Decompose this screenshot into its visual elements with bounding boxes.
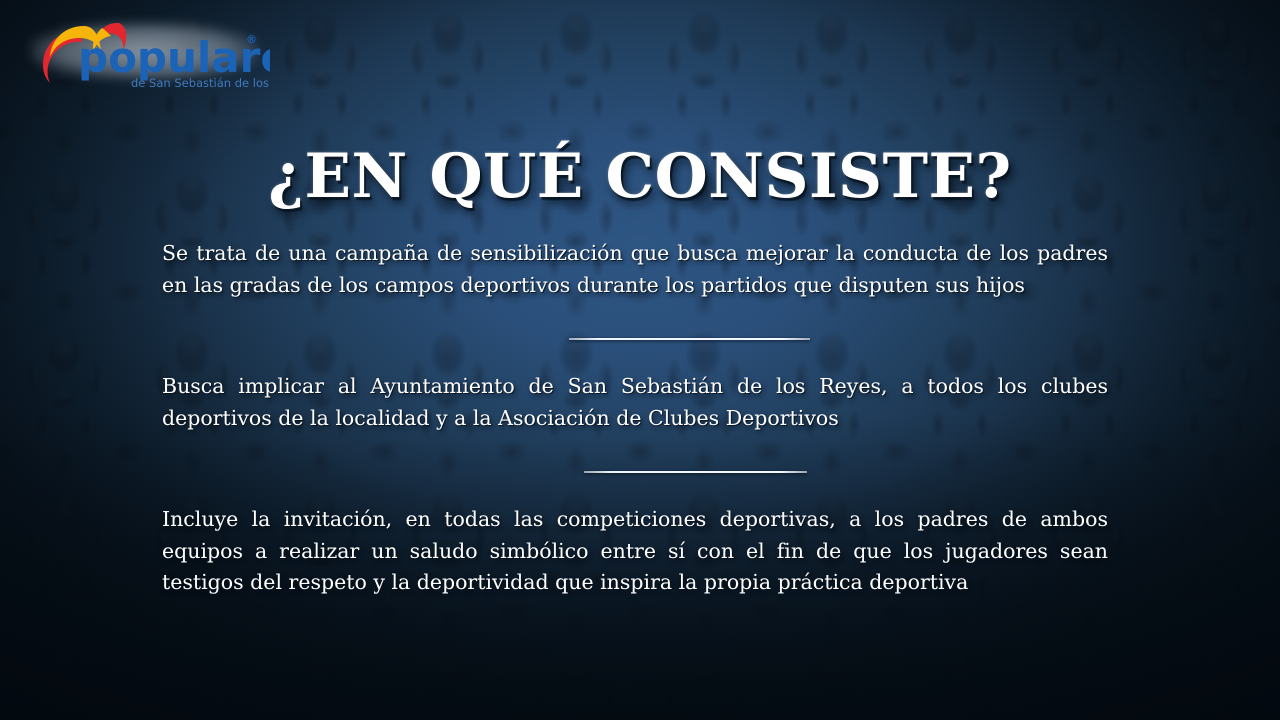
slide-title: ¿EN QUÉ CONSISTE? — [0, 145, 1280, 208]
spacer-1 — [162, 301, 1108, 327]
populares-logo[interactable]: populares ® de San Sebastián de los Reye… — [18, 10, 270, 92]
divider-2-wrap — [162, 460, 1108, 478]
logo-subtitle: de San Sebastián de los Reyes — [131, 76, 270, 90]
presentation-slide: populares ® de San Sebastián de los Reye… — [0, 0, 1280, 720]
slide-body: Se trata de una campaña de sensibilizaci… — [162, 238, 1108, 599]
paragraph-2: Busca implicar al Ayuntamiento de San Se… — [162, 371, 1108, 434]
paragraph-1: Se trata de una campaña de sensibilizaci… — [162, 238, 1108, 301]
spacer-2 — [162, 345, 1108, 371]
spacer-3 — [162, 434, 1108, 460]
divider-1-wrap — [162, 327, 1108, 345]
spacer-4 — [162, 478, 1108, 504]
divider-1 — [569, 338, 810, 340]
divider-2 — [584, 471, 807, 473]
registered-trademark-icon: ® — [246, 33, 257, 46]
logo-wordmark: populares — [78, 33, 270, 82]
paragraph-3: Incluye la invitación, en todas las comp… — [162, 504, 1108, 599]
logo-artwork: populares ® de San Sebastián de los Reye… — [18, 10, 270, 92]
